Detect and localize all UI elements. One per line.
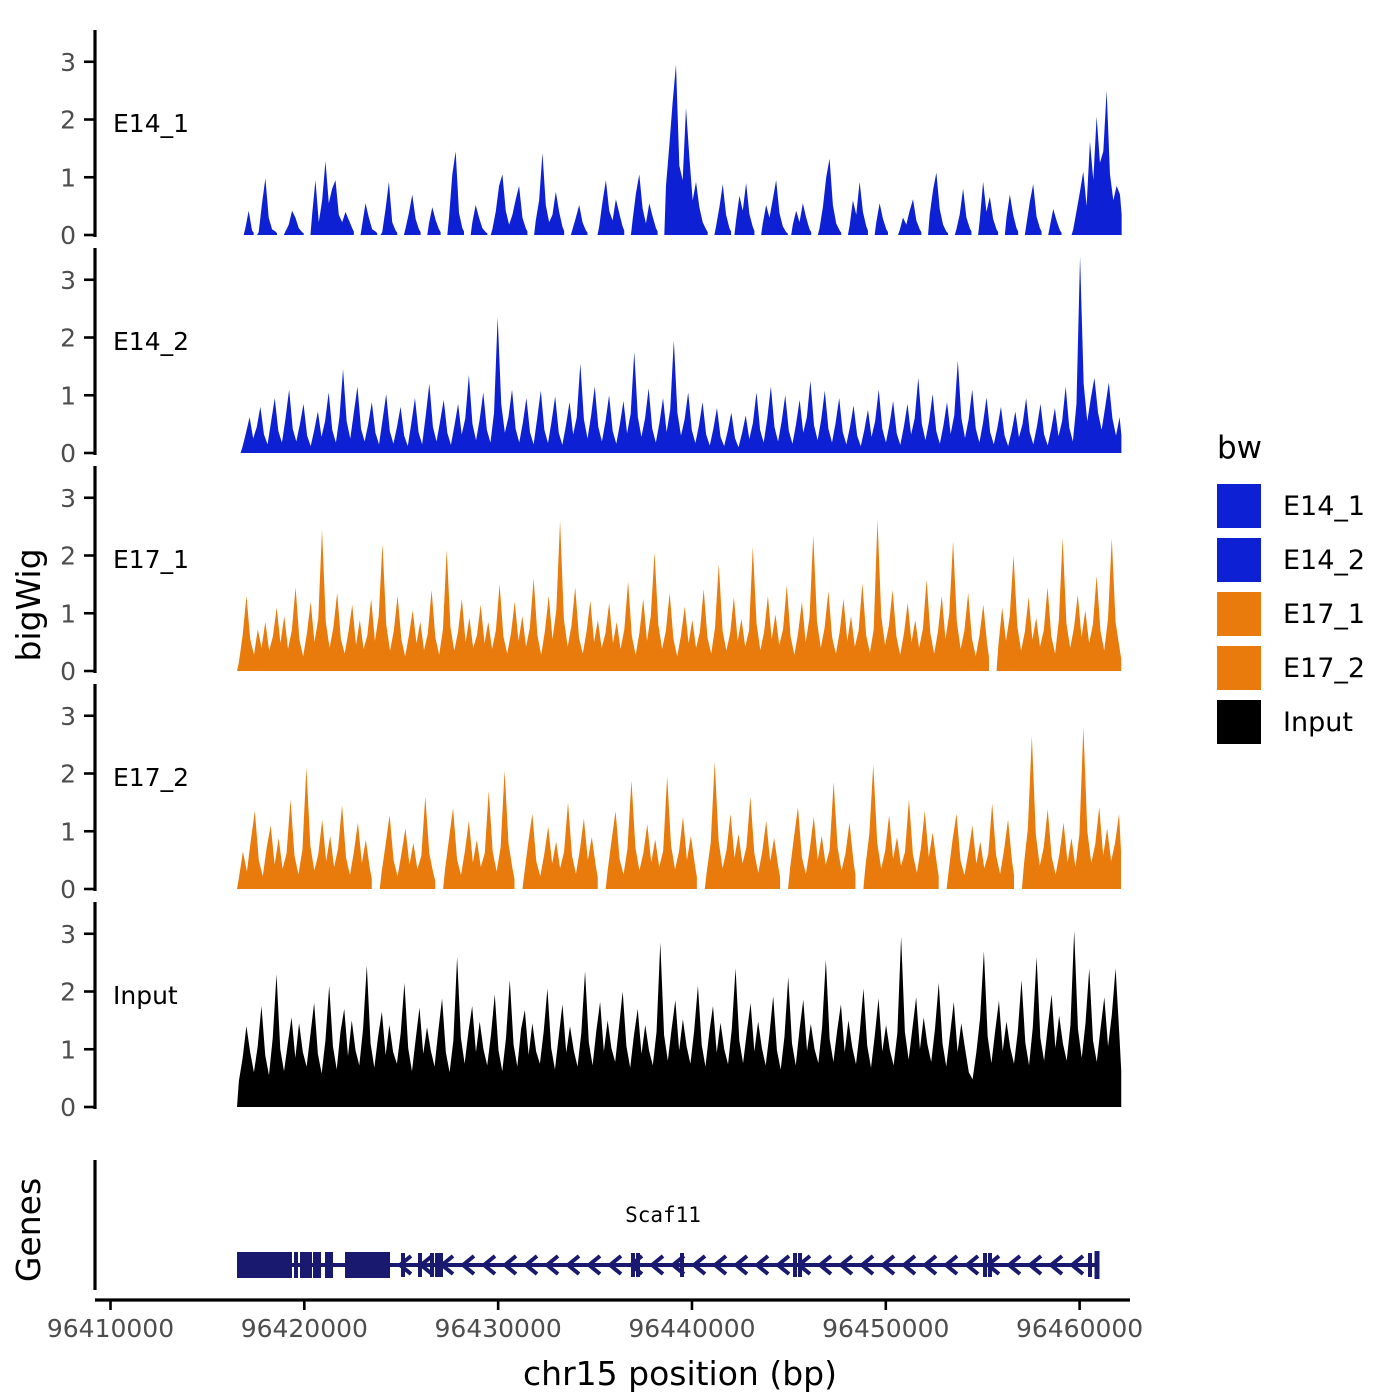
track-label-e17_1: E17_1 [113, 545, 189, 574]
x-tick-label: 96430000 [435, 1314, 562, 1343]
legend-label: E17_2 [1283, 653, 1365, 684]
legend-item-e17_1[interactable]: E17_1 [1217, 592, 1365, 636]
y-tick-label: 0 [60, 439, 76, 468]
legend-swatch [1217, 484, 1261, 528]
y-tick-label: 1 [60, 817, 76, 846]
y-tick-label: 1 [60, 599, 76, 628]
y-tick-label: 2 [60, 106, 76, 135]
gene-exon [237, 1252, 292, 1278]
legend-label: E17_1 [1283, 599, 1365, 630]
legend-label: E14_1 [1283, 491, 1365, 522]
x-tick-label: 96420000 [241, 1314, 368, 1343]
legend-label: Input [1283, 707, 1353, 738]
legend-item-e14_2[interactable]: E14_2 [1217, 538, 1365, 582]
legend-item-e17_2[interactable]: E17_2 [1217, 646, 1365, 690]
gene-exon [300, 1252, 308, 1278]
legend-label: E14_2 [1283, 545, 1365, 576]
y-tick-label: 3 [60, 484, 76, 513]
y-tick-label: 2 [60, 978, 76, 1007]
legend-item-e14_1[interactable]: E14_1 [1217, 484, 1365, 528]
legend-swatch [1217, 538, 1261, 582]
x-tick-label: 96440000 [628, 1314, 755, 1343]
y-tick-label: 1 [60, 163, 76, 192]
y-tick-label: 3 [60, 920, 76, 949]
track-label-e14_1: E14_1 [113, 109, 189, 138]
legend-swatch [1217, 700, 1261, 744]
x-tick-label: 96410000 [47, 1314, 174, 1343]
legend-swatch [1217, 592, 1261, 636]
y-tick-label: 3 [60, 702, 76, 731]
legend-title: bw [1217, 430, 1262, 466]
y-tick-label: 3 [60, 266, 76, 295]
track-label-e17_2: E17_2 [113, 763, 189, 792]
y-axis-title-bigwig: bigWig [9, 548, 48, 661]
y-tick-label: 2 [60, 542, 76, 571]
y-tick-label: 2 [60, 760, 76, 789]
plot-background [0, 0, 1400, 1400]
y-tick-label: 2 [60, 324, 76, 353]
y-tick-label: 0 [60, 1093, 76, 1122]
gene-name-label: Scaf11 [625, 1203, 701, 1227]
y-tick-label: 1 [60, 1035, 76, 1064]
track-label-e14_2: E14_2 [113, 327, 189, 356]
track-label-input: Input [113, 981, 178, 1010]
y-tick-label: 1 [60, 381, 76, 410]
genome-browser-coverage-plot: bigWig Genes chr15 position (bp) 0123E14… [0, 0, 1400, 1400]
y-axis-title-genes: Genes [9, 1178, 48, 1282]
y-tick-label: 0 [60, 875, 76, 904]
gene-exon [345, 1252, 390, 1278]
legend-item-input[interactable]: Input [1217, 700, 1353, 744]
x-axis-title: chr15 position (bp) [523, 1354, 837, 1393]
y-tick-label: 0 [60, 657, 76, 686]
x-tick-label: 96450000 [822, 1314, 949, 1343]
legend-swatch [1217, 646, 1261, 690]
x-tick-label: 96460000 [1016, 1314, 1143, 1343]
y-tick-label: 3 [60, 48, 76, 77]
y-tick-label: 0 [60, 221, 76, 250]
